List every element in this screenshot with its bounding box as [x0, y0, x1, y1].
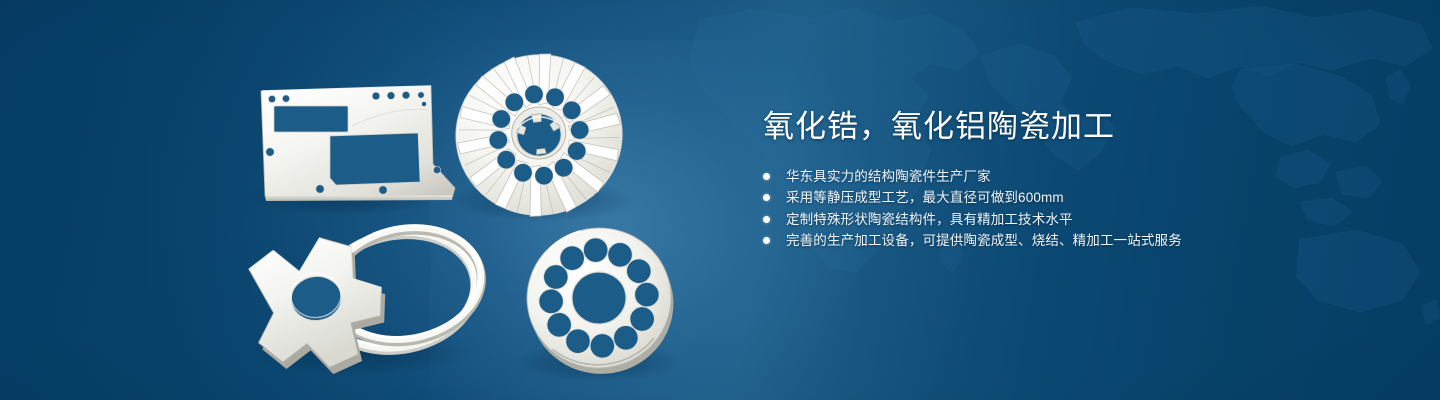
list-item-label: 采用等静压成型工艺，最大直径可做到600mm: [786, 190, 1064, 205]
feature-list: 华东具实力的结构陶瓷件生产厂家 采用等静压成型工艺，最大直径可做到600mm 定…: [763, 166, 1363, 251]
banner-copy: 氧化锆，氧化铝陶瓷加工 华东具实力的结构陶瓷件生产厂家 采用等静压成型工艺，最大…: [763, 104, 1363, 251]
page-title: 氧化锆，氧化铝陶瓷加工: [763, 104, 1363, 150]
list-item: 完善的生产加工设备，可提供陶瓷成型、烧结、精加工一站式服务: [763, 230, 1363, 251]
list-item: 华东具实力的结构陶瓷件生产厂家: [763, 166, 1363, 187]
bullet-dot-icon: [763, 173, 770, 180]
bullet-dot-icon: [763, 237, 770, 244]
bullet-dot-icon: [763, 216, 770, 223]
list-item: 采用等静压成型工艺，最大直径可做到600mm: [763, 187, 1363, 208]
hero-banner: 氧化锆，氧化铝陶瓷加工 华东具实力的结构陶瓷件生产厂家 采用等静压成型工艺，最大…: [0, 0, 1440, 400]
list-item: 定制特殊形状陶瓷结构件，具有精加工技术水平: [763, 209, 1363, 230]
list-item-label: 定制特殊形状陶瓷结构件，具有精加工技术水平: [786, 212, 1073, 227]
list-item-label: 完善的生产加工设备，可提供陶瓷成型、烧结、精加工一站式服务: [786, 233, 1182, 248]
list-item-label: 华东具实力的结构陶瓷件生产厂家: [786, 169, 991, 184]
bullet-dot-icon: [763, 194, 770, 201]
